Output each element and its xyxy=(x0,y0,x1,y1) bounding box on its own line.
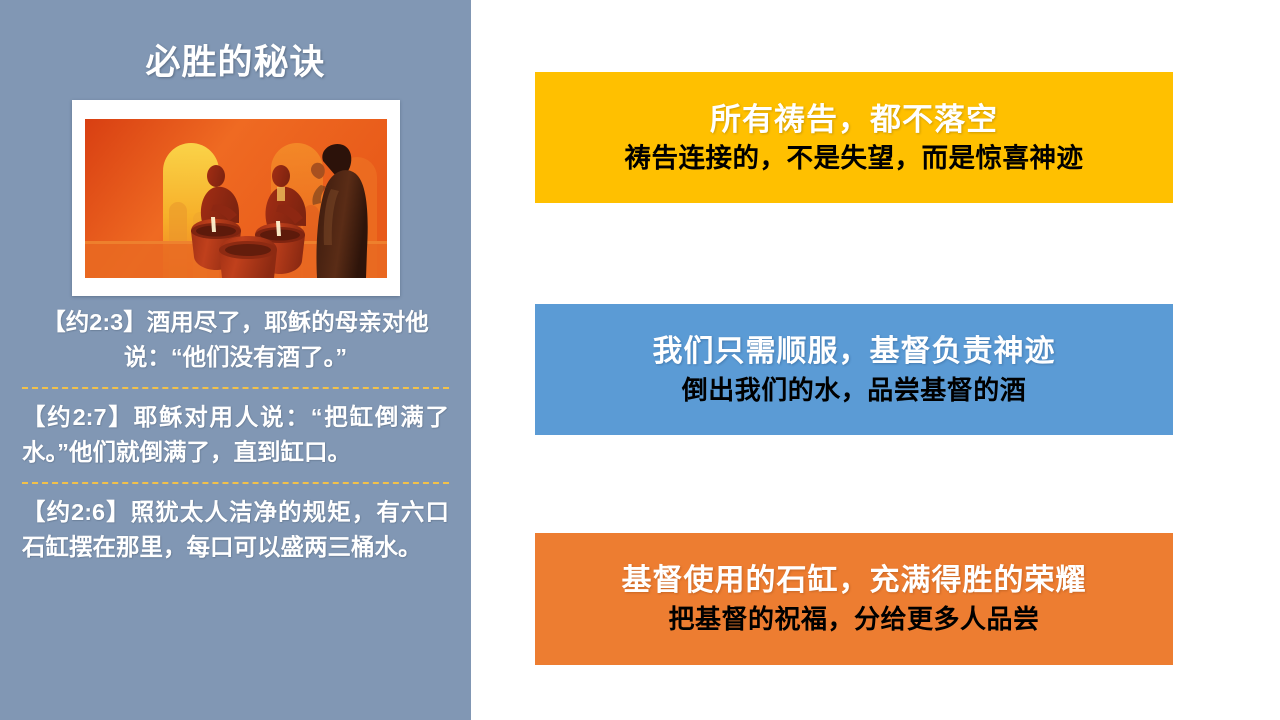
sidebar-panel: 必胜的秘诀 xyxy=(0,0,471,720)
scripture-verse-1: 【约2:3】酒用尽了，耶稣的母亲对他说：“他们没有酒了。” xyxy=(0,305,471,375)
callout-subheading-1: 祷告连接的，不是失望，而是惊喜神迹 xyxy=(625,141,1084,175)
scripture-list: 【约2:3】酒用尽了，耶稣的母亲对他说：“他们没有酒了。” 【约2:7】耶稣对用… xyxy=(0,305,471,565)
callout-heading-3: 基督使用的石缸，充满得胜的荣耀 xyxy=(622,562,1087,600)
wedding-at-cana-image xyxy=(85,119,387,278)
scripture-divider-1 xyxy=(22,387,449,389)
callout-heading-2: 我们只需顺服，基督负责神迹 xyxy=(653,333,1056,371)
callout-heading-1: 所有祷告，都不落空 xyxy=(710,101,998,139)
callout-subheading-2: 倒出我们的水，品尝基督的酒 xyxy=(682,373,1027,407)
callout-box-obedience: 我们只需顺服，基督负责神迹 倒出我们的水，品尝基督的酒 xyxy=(535,304,1173,435)
illustration-svg xyxy=(85,119,387,278)
callout-box-prayer: 所有祷告，都不落空 祷告连接的，不是失望，而是惊喜神迹 xyxy=(535,72,1173,203)
scripture-verse-3: 【约2:6】照犹太人洁净的规矩，有六口石缸摆在那里，每口可以盛两三桶水。 xyxy=(0,495,471,565)
picture-frame xyxy=(72,100,400,296)
scripture-divider-2 xyxy=(22,482,449,484)
callout-box-glory: 基督使用的石缸，充满得胜的荣耀 把基督的祝福，分给更多人品尝 xyxy=(535,533,1173,665)
callout-subheading-3: 把基督的祝福，分给更多人品尝 xyxy=(668,602,1039,636)
page-title: 必胜的秘诀 xyxy=(0,34,471,85)
scripture-verse-2: 【约2:7】耶稣对用人说：“把缸倒满了水。”他们就倒满了，直到缸口。 xyxy=(0,400,471,470)
